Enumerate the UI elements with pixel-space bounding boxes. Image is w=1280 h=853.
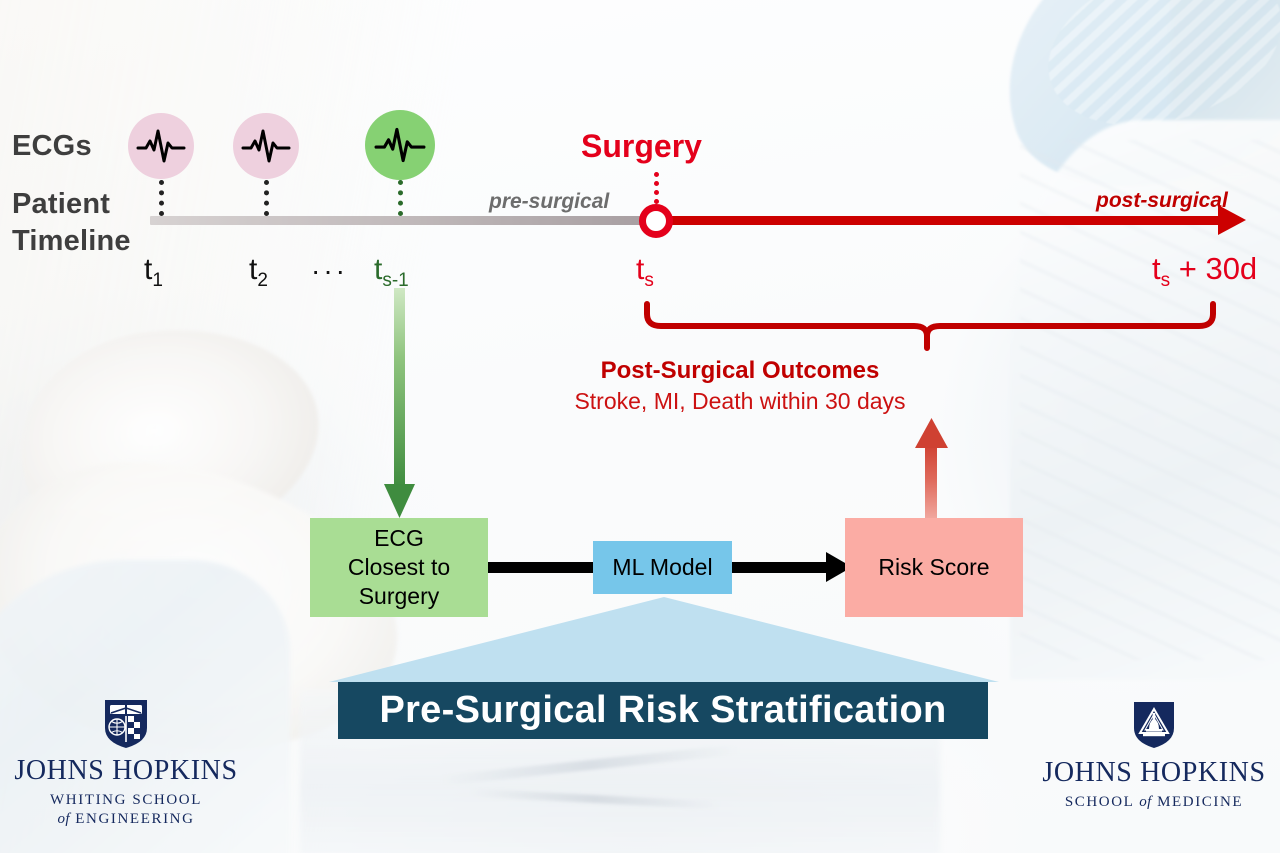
risk-to-outcome-arrow <box>912 418 952 523</box>
ml-model-box[interactable]: ML Model <box>593 541 732 594</box>
green-selection-arrow <box>382 288 418 520</box>
post-surgical-timeline <box>655 216 1220 225</box>
ecg-closest-box[interactable]: ECG Closest to Surgery <box>310 518 488 617</box>
pre-surgical-timeline <box>150 216 655 225</box>
jhu-medicine-shield-icon <box>1132 700 1176 750</box>
ecg-box-line-2: Closest to <box>348 553 450 582</box>
logo-jhu-medicine-name: JOHNS HOPKINS <box>1042 758 1266 788</box>
patient-row-label: Patient <box>12 186 110 223</box>
logo-jhu-medicine-school: SCHOOL <box>1065 794 1134 810</box>
ecg-box-line-3: Surgery <box>348 582 450 611</box>
tick-label-t1: t1 <box>144 253 163 292</box>
logo-jhu-whiting: JOHNS HOPKINS WHITING SCHOOL of ENGINEER… <box>14 698 238 829</box>
post-surgical-label: post-surgical <box>1096 189 1228 213</box>
logo-jhu-whiting-dept: ENGINEERING <box>75 811 194 827</box>
pre-surgical-label: pre-surgical <box>489 190 609 214</box>
flow-arrow-model-to-risk <box>725 562 830 573</box>
surgery-marker[interactable] <box>639 204 673 238</box>
ecg-connector-2 <box>264 180 269 216</box>
banner-title: Pre-Surgical Risk Stratification <box>338 682 988 739</box>
logo-jhu-medicine-dept: MEDICINE <box>1157 794 1243 810</box>
surgery-connector <box>654 172 659 204</box>
post-surgical-bracket <box>630 300 1230 360</box>
ecg-marker-3-selected[interactable] <box>365 110 435 180</box>
tick-label-ts-minus-1: ts-1 <box>374 253 409 292</box>
logo-jhu-whiting-line1: WHITING SCHOOL <box>14 791 238 810</box>
tick-label-ts: ts <box>636 253 654 292</box>
logo-jhu-whiting-of: of <box>57 811 69 827</box>
logo-jhu-whiting-name: JOHNS HOPKINS <box>14 756 238 786</box>
post-surgical-outcomes-subtitle: Stroke, MI, Death within 30 days <box>0 388 1280 415</box>
tick-label-ellipsis: ··· <box>311 255 348 287</box>
tick-label-ts-plus-30d: ts + 30d <box>1152 251 1257 292</box>
logo-jhu-whiting-line2: of ENGINEERING <box>14 810 238 829</box>
ecg-waveform-icon <box>241 126 291 166</box>
logo-jhu-medicine-line1: SCHOOL of MEDICINE <box>1042 793 1266 812</box>
ecg-connector-1 <box>159 180 164 216</box>
post-surgical-outcomes-title: Post-Surgical Outcomes <box>0 357 1280 385</box>
ecg-waveform-icon <box>136 126 186 166</box>
logo-jhu-medicine-of: of <box>1139 794 1151 810</box>
tick-label-t2: t2 <box>249 253 268 292</box>
logo-jhu-medicine: JOHNS HOPKINS SCHOOL of MEDICINE <box>1042 700 1266 812</box>
risk-score-box[interactable]: Risk Score <box>845 518 1023 617</box>
ecg-connector-3 <box>398 180 403 216</box>
ecgs-row-label: ECGs <box>12 128 92 165</box>
timeline-row-label: Timeline <box>12 223 131 260</box>
figure-canvas: ECGs Patient Timeline Surgery pre-surgic… <box>0 0 1280 853</box>
jhu-shield-icon <box>103 698 149 750</box>
surgery-title: Surgery <box>581 128 702 165</box>
ecg-marker-2[interactable] <box>233 113 299 179</box>
ecg-box-line-1: ECG <box>348 524 450 553</box>
ecg-waveform-icon <box>374 124 426 166</box>
ecg-marker-1[interactable] <box>128 113 194 179</box>
